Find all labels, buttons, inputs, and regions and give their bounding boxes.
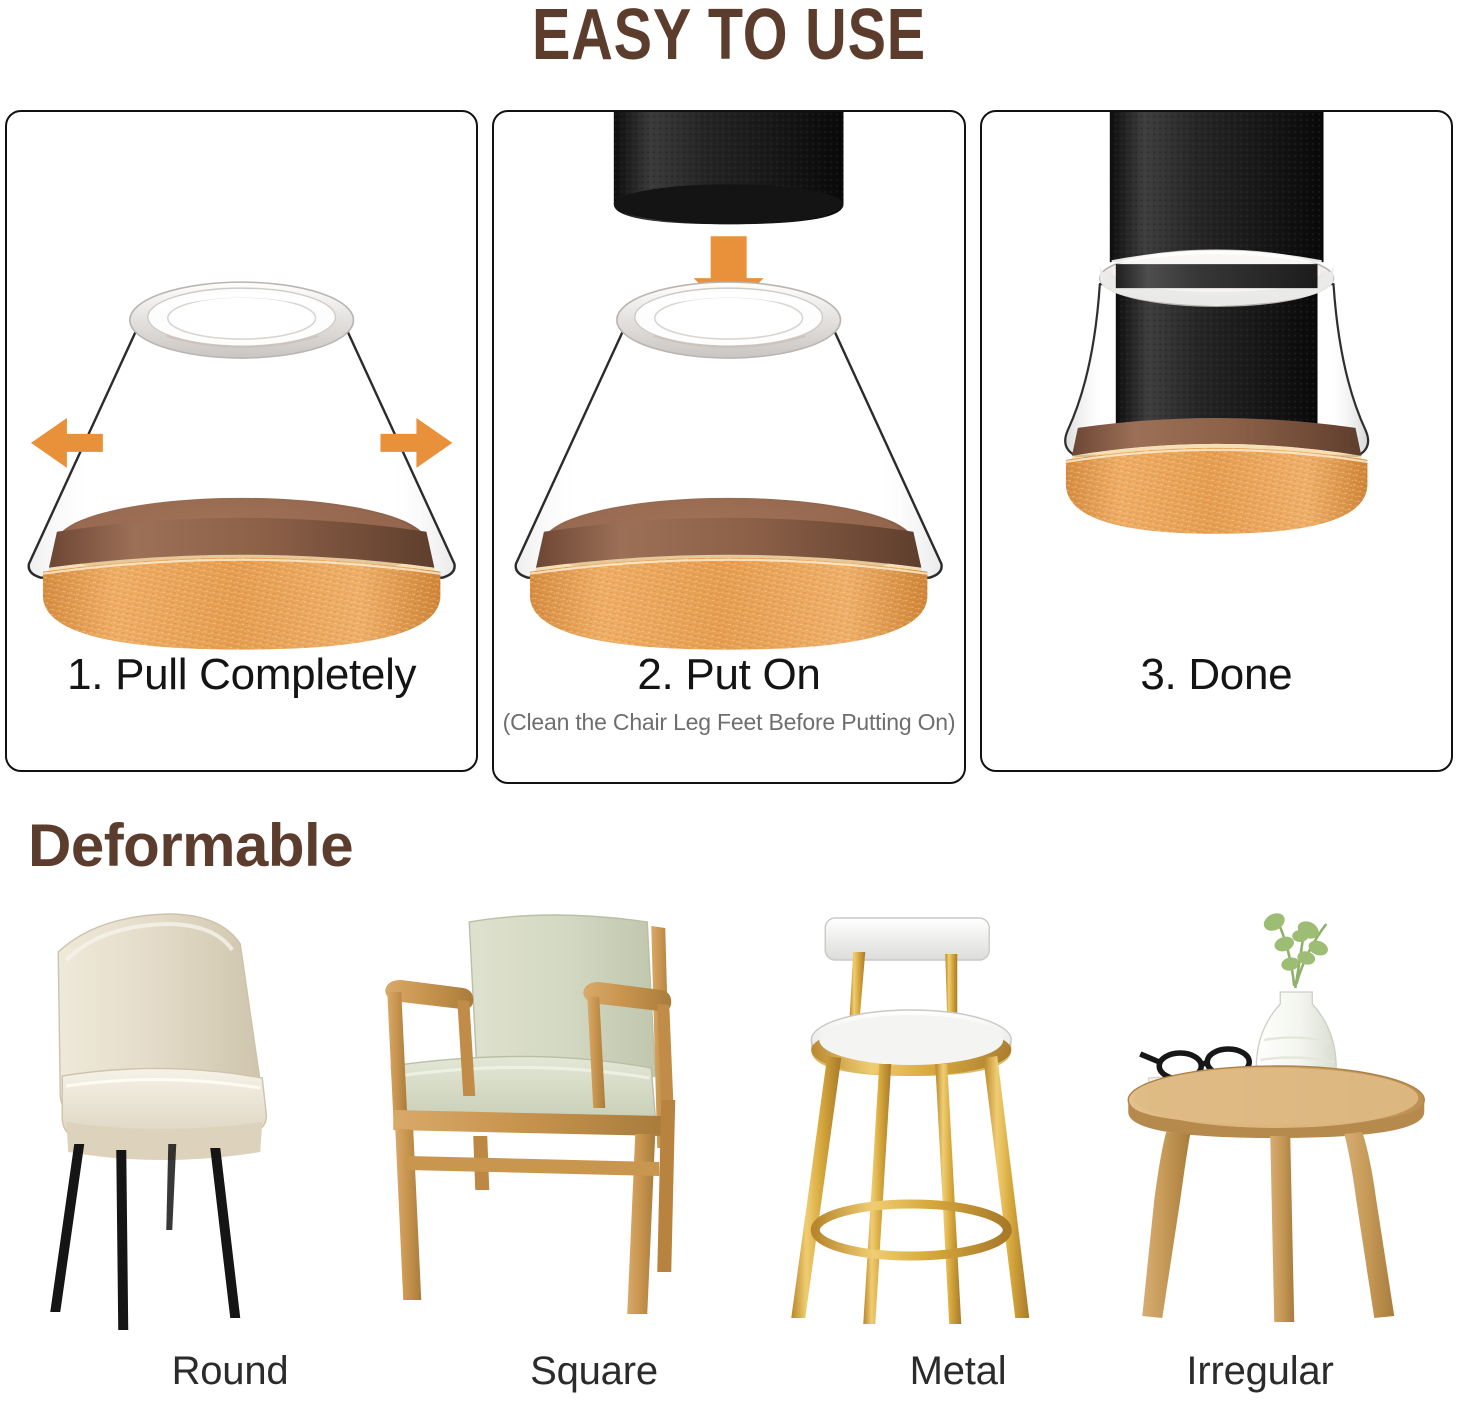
steps-row: 1. Pull Completely <box>5 110 1453 772</box>
furniture-caption-round: Round <box>48 1348 412 1394</box>
step-2-illustration <box>494 112 963 642</box>
black-chair-leg-icon <box>614 110 844 224</box>
furniture-item-metal <box>729 900 1094 1340</box>
step-panel-put-on: 2. Put On (Clean the Chair Leg Feet Befo… <box>492 110 965 784</box>
step-1-illustration <box>7 112 476 642</box>
step-panel-done: 3. Done <box>980 110 1453 772</box>
chair-legs <box>50 1144 240 1330</box>
furniture-item-irregular <box>1094 900 1458 1340</box>
step-panel-pull: 1. Pull Completely <box>5 110 478 772</box>
page-title: EASY TO USE <box>146 0 1312 74</box>
furniture-item-square <box>365 900 730 1340</box>
step-3-illustration <box>982 112 1451 642</box>
table-legs <box>1142 1132 1394 1322</box>
bar-stool-icon <box>729 900 1094 1340</box>
furniture-caption-square: Square <box>412 1348 776 1394</box>
step-3-label: 3. Done <box>982 650 1451 700</box>
stool-legs <box>791 1056 1029 1324</box>
step-2-label: 2. Put On <box>494 650 963 700</box>
black-chair-leg-icon <box>1109 110 1323 262</box>
step-2-note: (Clean the Chair Leg Feet Before Putting… <box>494 708 963 736</box>
step-1-label: 1. Pull Completely <box>7 650 476 700</box>
section-title-deformable: Deformable <box>28 812 353 880</box>
side-table-icon <box>1094 900 1458 1340</box>
wooden-armchair-icon <box>365 900 730 1340</box>
dining-chair-icon <box>0 900 365 1340</box>
plant-leaves <box>1260 910 1329 972</box>
product-infographic: EASY TO USE <box>0 0 1458 1404</box>
furniture-item-round <box>0 900 365 1340</box>
furniture-row <box>0 900 1458 1340</box>
furniture-caption-irregular: Irregular <box>1078 1348 1442 1394</box>
